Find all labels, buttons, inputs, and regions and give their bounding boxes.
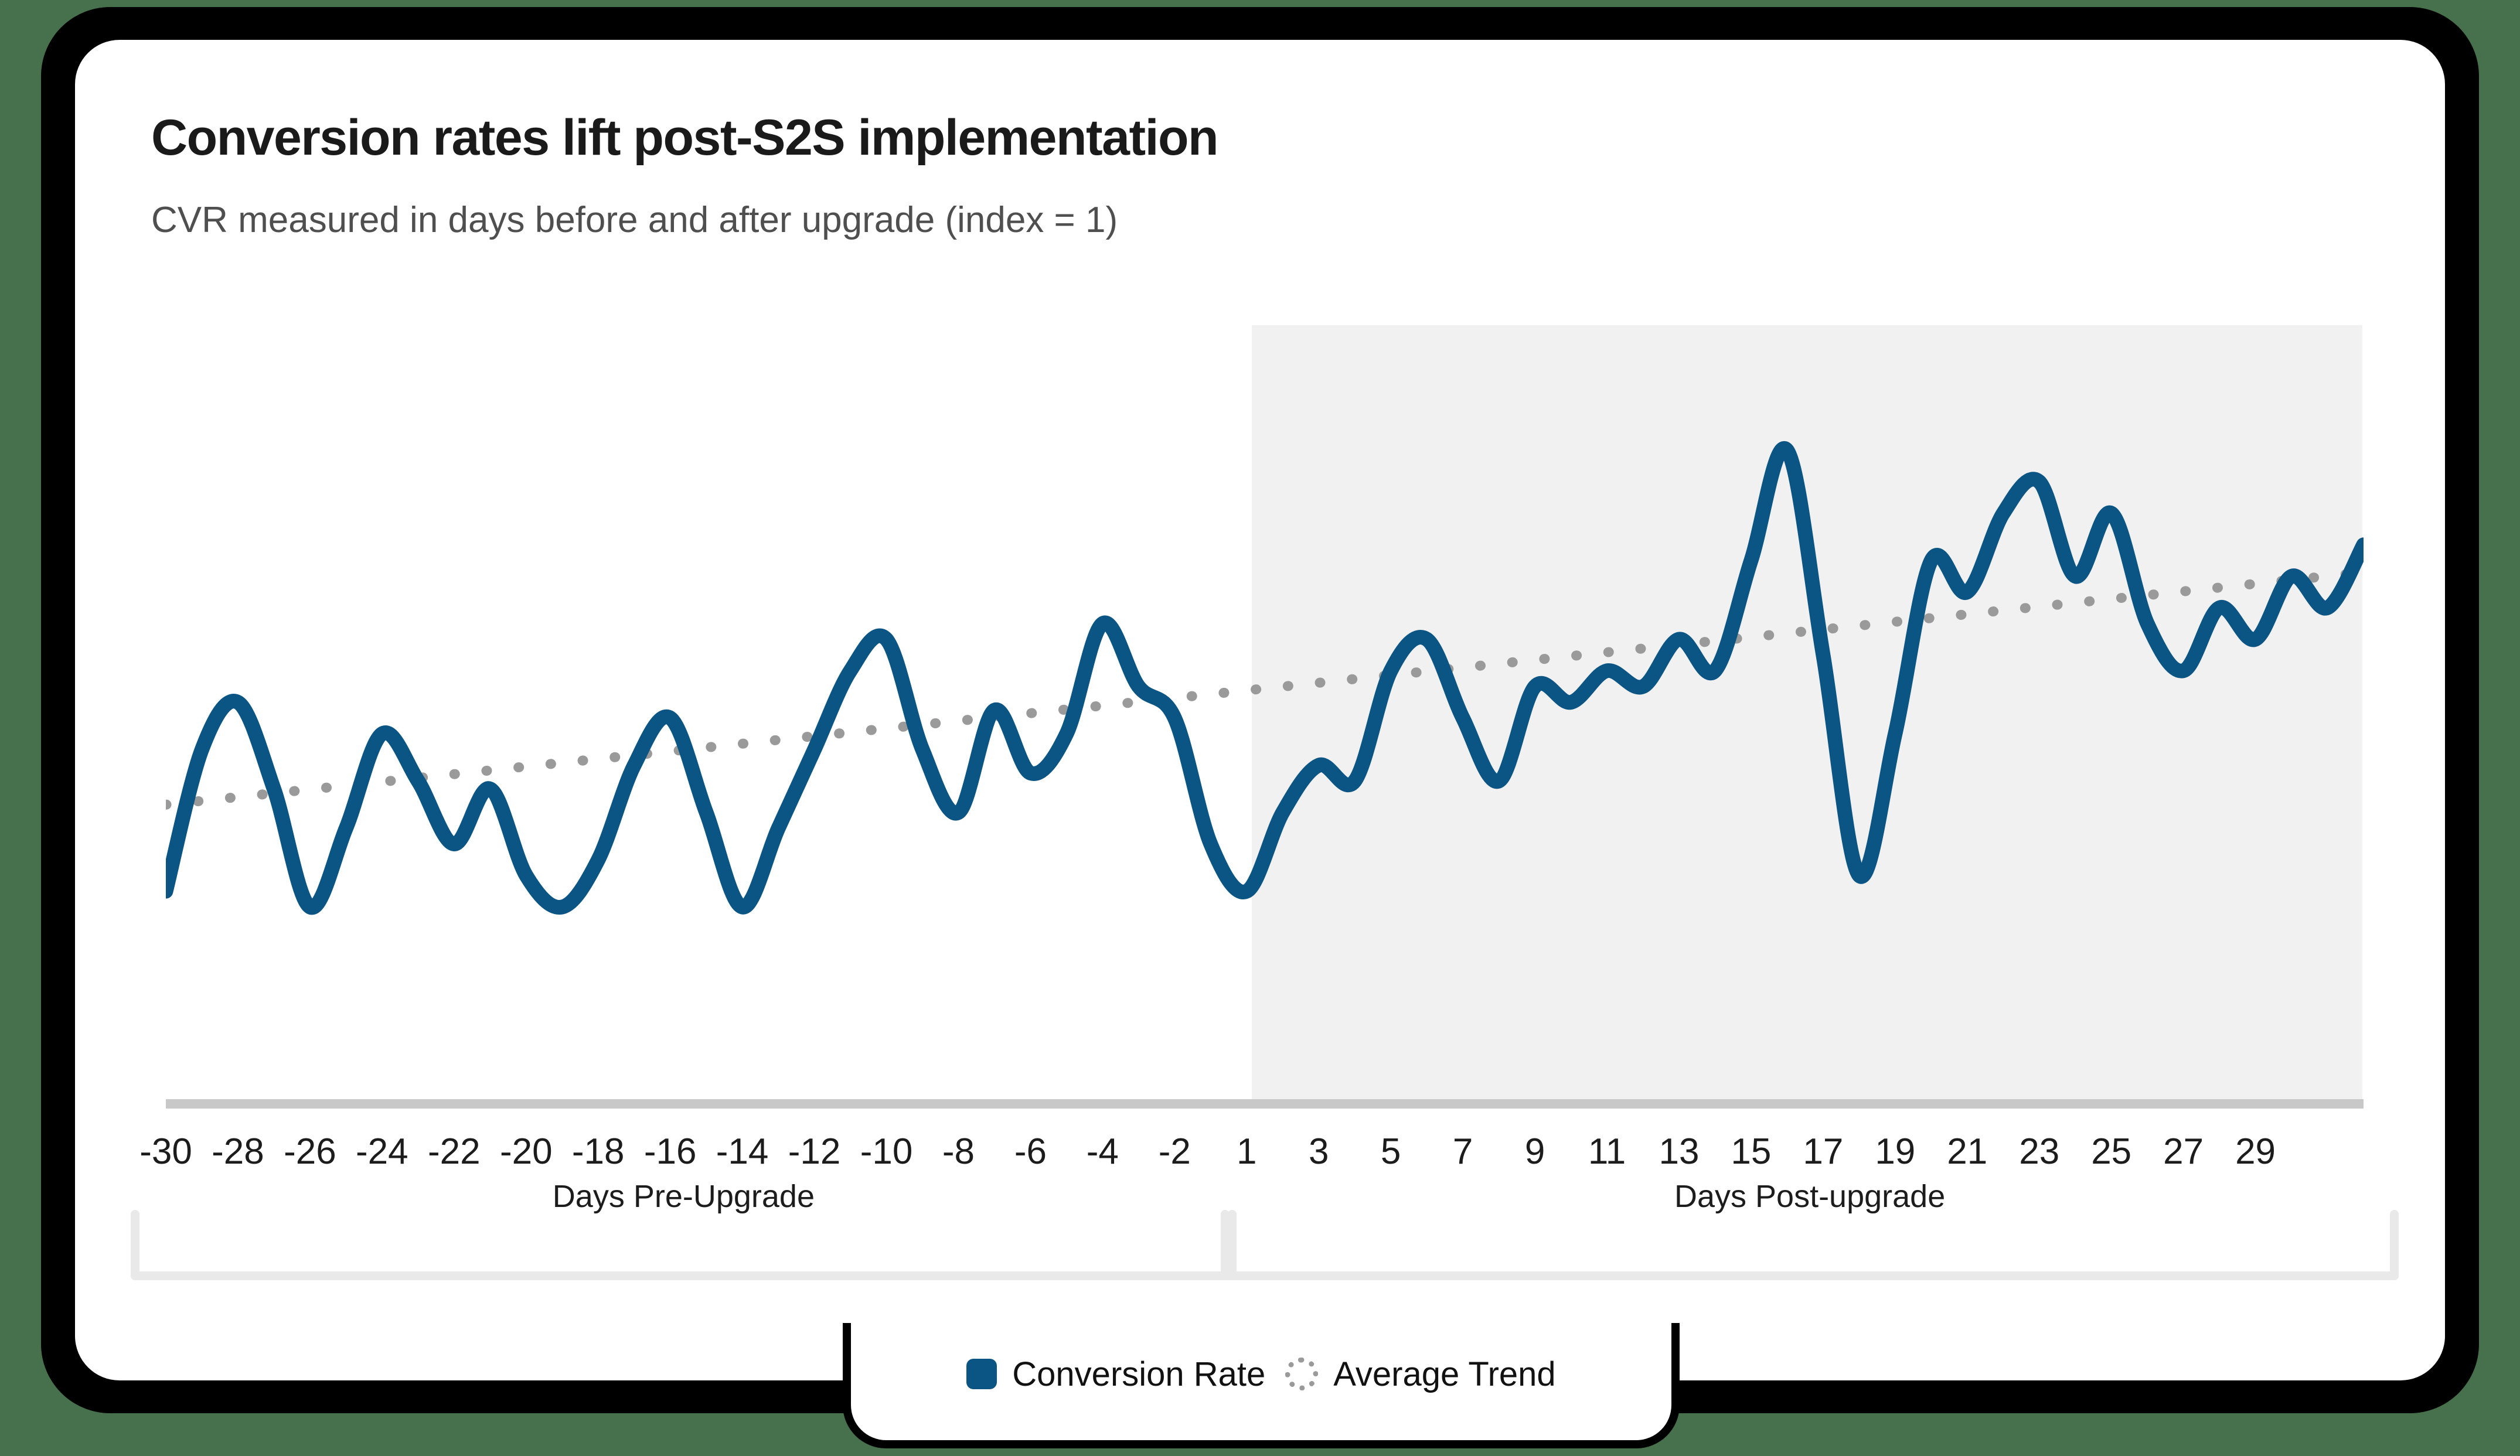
bracket-days-pre-upgrade: Days Pre-Upgrade	[131, 1204, 1237, 1280]
x-tick-neg30: -30	[139, 1131, 192, 1172]
x-tick-3: 3	[1309, 1131, 1329, 1172]
x-tick-neg16: -16	[644, 1131, 697, 1172]
x-tick-15: 15	[1731, 1131, 1771, 1172]
x-tick-1: 1	[1237, 1131, 1256, 1172]
x-tick-neg22: -22	[428, 1131, 481, 1172]
x-tick-neg28: -28	[212, 1131, 264, 1172]
chart-plot-area	[166, 316, 2364, 1104]
bracket-pre-cap-left	[131, 1210, 139, 1280]
x-tick-13: 13	[1659, 1131, 1699, 1172]
bracket-pre-baseline	[131, 1271, 1237, 1280]
x-axis-line	[166, 1099, 2364, 1109]
chart-legend: Conversion Rate Average Trend	[851, 1342, 1671, 1406]
x-tick-9: 9	[1525, 1131, 1545, 1172]
solid-square-icon	[966, 1359, 997, 1389]
x-tick-neg4: -4	[1087, 1131, 1119, 1172]
x-tick-neg6: -6	[1014, 1131, 1047, 1172]
bracket-post-label: Days Post-upgrade	[1659, 1178, 1960, 1215]
x-tick-neg14: -14	[716, 1131, 769, 1172]
x-tick-23: 23	[2019, 1131, 2059, 1172]
page-subtitle: CVR measured in days before and after up…	[151, 199, 1118, 241]
x-tick-29: 29	[2235, 1131, 2276, 1172]
x-tick-neg18: -18	[572, 1131, 625, 1172]
conversion-rate-line	[166, 448, 2364, 908]
page-title: Conversion rates lift post-S2S implement…	[151, 109, 1218, 167]
x-tick-neg8: -8	[942, 1131, 975, 1172]
legend-label-conversion-rate: Conversion Rate	[1012, 1355, 1265, 1394]
x-axis-tick-labels: -30-28-26-24-22-20-18-16-14-12-10-8-6-4-…	[0, 1131, 2520, 1189]
x-tick-11: 11	[1588, 1131, 1626, 1172]
x-tick-neg24: -24	[356, 1131, 408, 1172]
dotted-circle-icon	[1285, 1358, 1318, 1390]
x-tick-7: 7	[1453, 1131, 1473, 1172]
bracket-days-post-upgrade: Days Post-upgrade	[1221, 1204, 2399, 1280]
x-tick-21: 21	[1947, 1131, 1987, 1172]
average-trend-line	[166, 572, 2364, 805]
x-tick-neg10: -10	[860, 1131, 913, 1172]
legend-label-average-trend: Average Trend	[1333, 1355, 1555, 1394]
x-tick-27: 27	[2163, 1131, 2204, 1172]
x-tick-5: 5	[1381, 1131, 1401, 1172]
bracket-post-cap-left	[1221, 1210, 1230, 1280]
x-tick-25: 25	[2091, 1131, 2131, 1172]
x-tick-neg26: -26	[284, 1131, 336, 1172]
bracket-post-cap-right	[2390, 1210, 2399, 1280]
bracket-pre-label: Days Pre-Upgrade	[537, 1178, 830, 1215]
bracket-post-baseline	[1221, 1271, 2399, 1280]
legend-item-conversion-rate[interactable]: Conversion Rate	[966, 1355, 1265, 1394]
legend-item-average-trend[interactable]: Average Trend	[1285, 1355, 1555, 1394]
line-chart-svg	[166, 316, 2364, 1104]
x-tick-neg2: -2	[1159, 1131, 1191, 1172]
x-tick-19: 19	[1875, 1131, 1915, 1172]
x-tick-neg20: -20	[500, 1131, 553, 1172]
x-tick-17: 17	[1803, 1131, 1843, 1172]
x-tick-neg12: -12	[788, 1131, 841, 1172]
